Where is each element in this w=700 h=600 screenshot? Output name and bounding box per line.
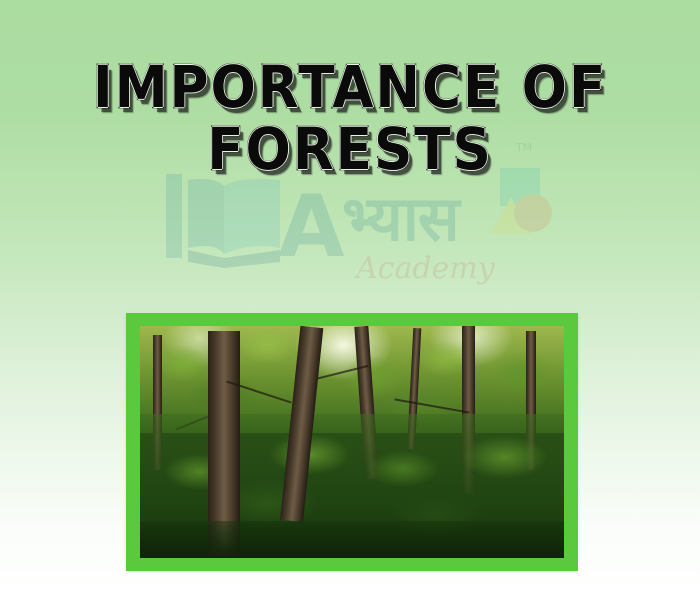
open-book-icon: [164, 172, 282, 268]
title-line-1: IMPORTANCE OF: [28, 56, 672, 118]
photo-ground-layer: [140, 521, 564, 558]
watermark-devanagari: भ्यास: [342, 188, 459, 250]
watermark-letter-a: A: [278, 184, 345, 270]
watermark-circle-shape: [514, 194, 552, 232]
forest-photograph: [140, 326, 564, 558]
poster-canvas: A भ्यास Academy TM IMPORTANCE OF FORESTS: [0, 0, 700, 600]
watermark-academy-script: Academy: [356, 254, 495, 284]
title-line-2: FORESTS: [28, 118, 672, 180]
page-title: IMPORTANCE OF FORESTS: [0, 56, 700, 180]
watermark-triangle-shape: [490, 198, 532, 234]
photo-frame: [126, 313, 578, 571]
